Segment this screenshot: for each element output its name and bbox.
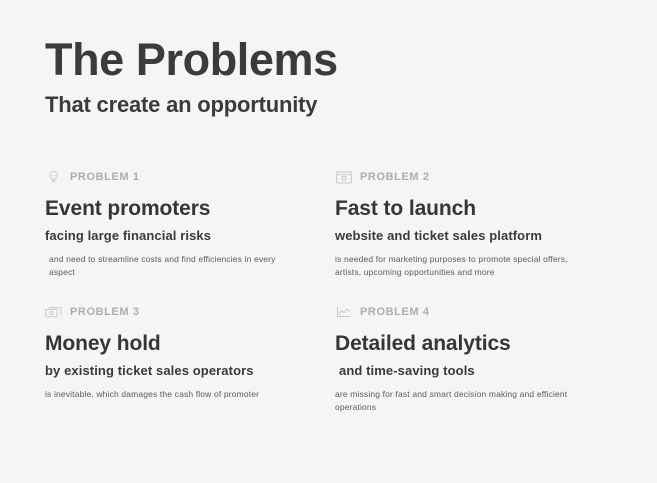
problem-4-body: are missing for fast and smart decision … bbox=[335, 388, 585, 414]
problem-4-subtitle: and time-saving tools bbox=[335, 363, 625, 379]
problem-3-body: is inevitable, which damages the cash fl… bbox=[45, 388, 295, 401]
problem-2-label: PROBLEM 2 bbox=[360, 171, 430, 183]
problem-3-subtitle: by existing ticket sales operators bbox=[45, 363, 335, 379]
problem-2-subtitle: website and ticket sales platform bbox=[335, 228, 625, 244]
slide-root: The Problems That create an opportunity … bbox=[0, 0, 657, 483]
problem-3-title: Money hold bbox=[45, 332, 335, 356]
problem-2-body: is needed for marketing purposes to prom… bbox=[335, 253, 585, 279]
problems-grid: PROBLEM 1 Event promoters facing large f… bbox=[0, 168, 657, 414]
problem-1-body: and need to streamline costs and find ef… bbox=[45, 253, 299, 279]
problem-1-label: PROBLEM 1 bbox=[70, 171, 140, 183]
browser-window-icon bbox=[335, 170, 352, 185]
problem-2-label-row: PROBLEM 2 bbox=[335, 168, 625, 186]
money-bills-icon bbox=[45, 305, 62, 320]
problem-1-subtitle: facing large financial risks bbox=[45, 228, 335, 244]
slide-header: The Problems That create an opportunity bbox=[0, 0, 657, 119]
line-chart-icon bbox=[335, 305, 352, 320]
problem-2-title: Fast to launch bbox=[335, 197, 625, 221]
problem-1-title: Event promoters bbox=[45, 197, 335, 221]
page-title: The Problems bbox=[45, 36, 657, 83]
problem-card-1: PROBLEM 1 Event promoters facing large f… bbox=[45, 168, 335, 279]
problem-card-4: PROBLEM 4 Detailed analytics and time-sa… bbox=[335, 303, 625, 414]
problem-card-2: PROBLEM 2 Fast to launch website and tic… bbox=[335, 168, 625, 279]
problem-card-3: PROBLEM 3 Money hold by existing ticket … bbox=[45, 303, 335, 414]
problem-4-label: PROBLEM 4 bbox=[360, 306, 430, 318]
problem-3-label: PROBLEM 3 bbox=[70, 306, 140, 318]
problem-4-label-row: PROBLEM 4 bbox=[335, 303, 625, 321]
page-subtitle: That create an opportunity bbox=[45, 92, 657, 118]
problem-4-title: Detailed analytics bbox=[335, 332, 625, 356]
problem-3-label-row: PROBLEM 3 bbox=[45, 303, 335, 321]
lightbulb-icon bbox=[45, 170, 62, 185]
problem-1-label-row: PROBLEM 1 bbox=[45, 168, 335, 186]
